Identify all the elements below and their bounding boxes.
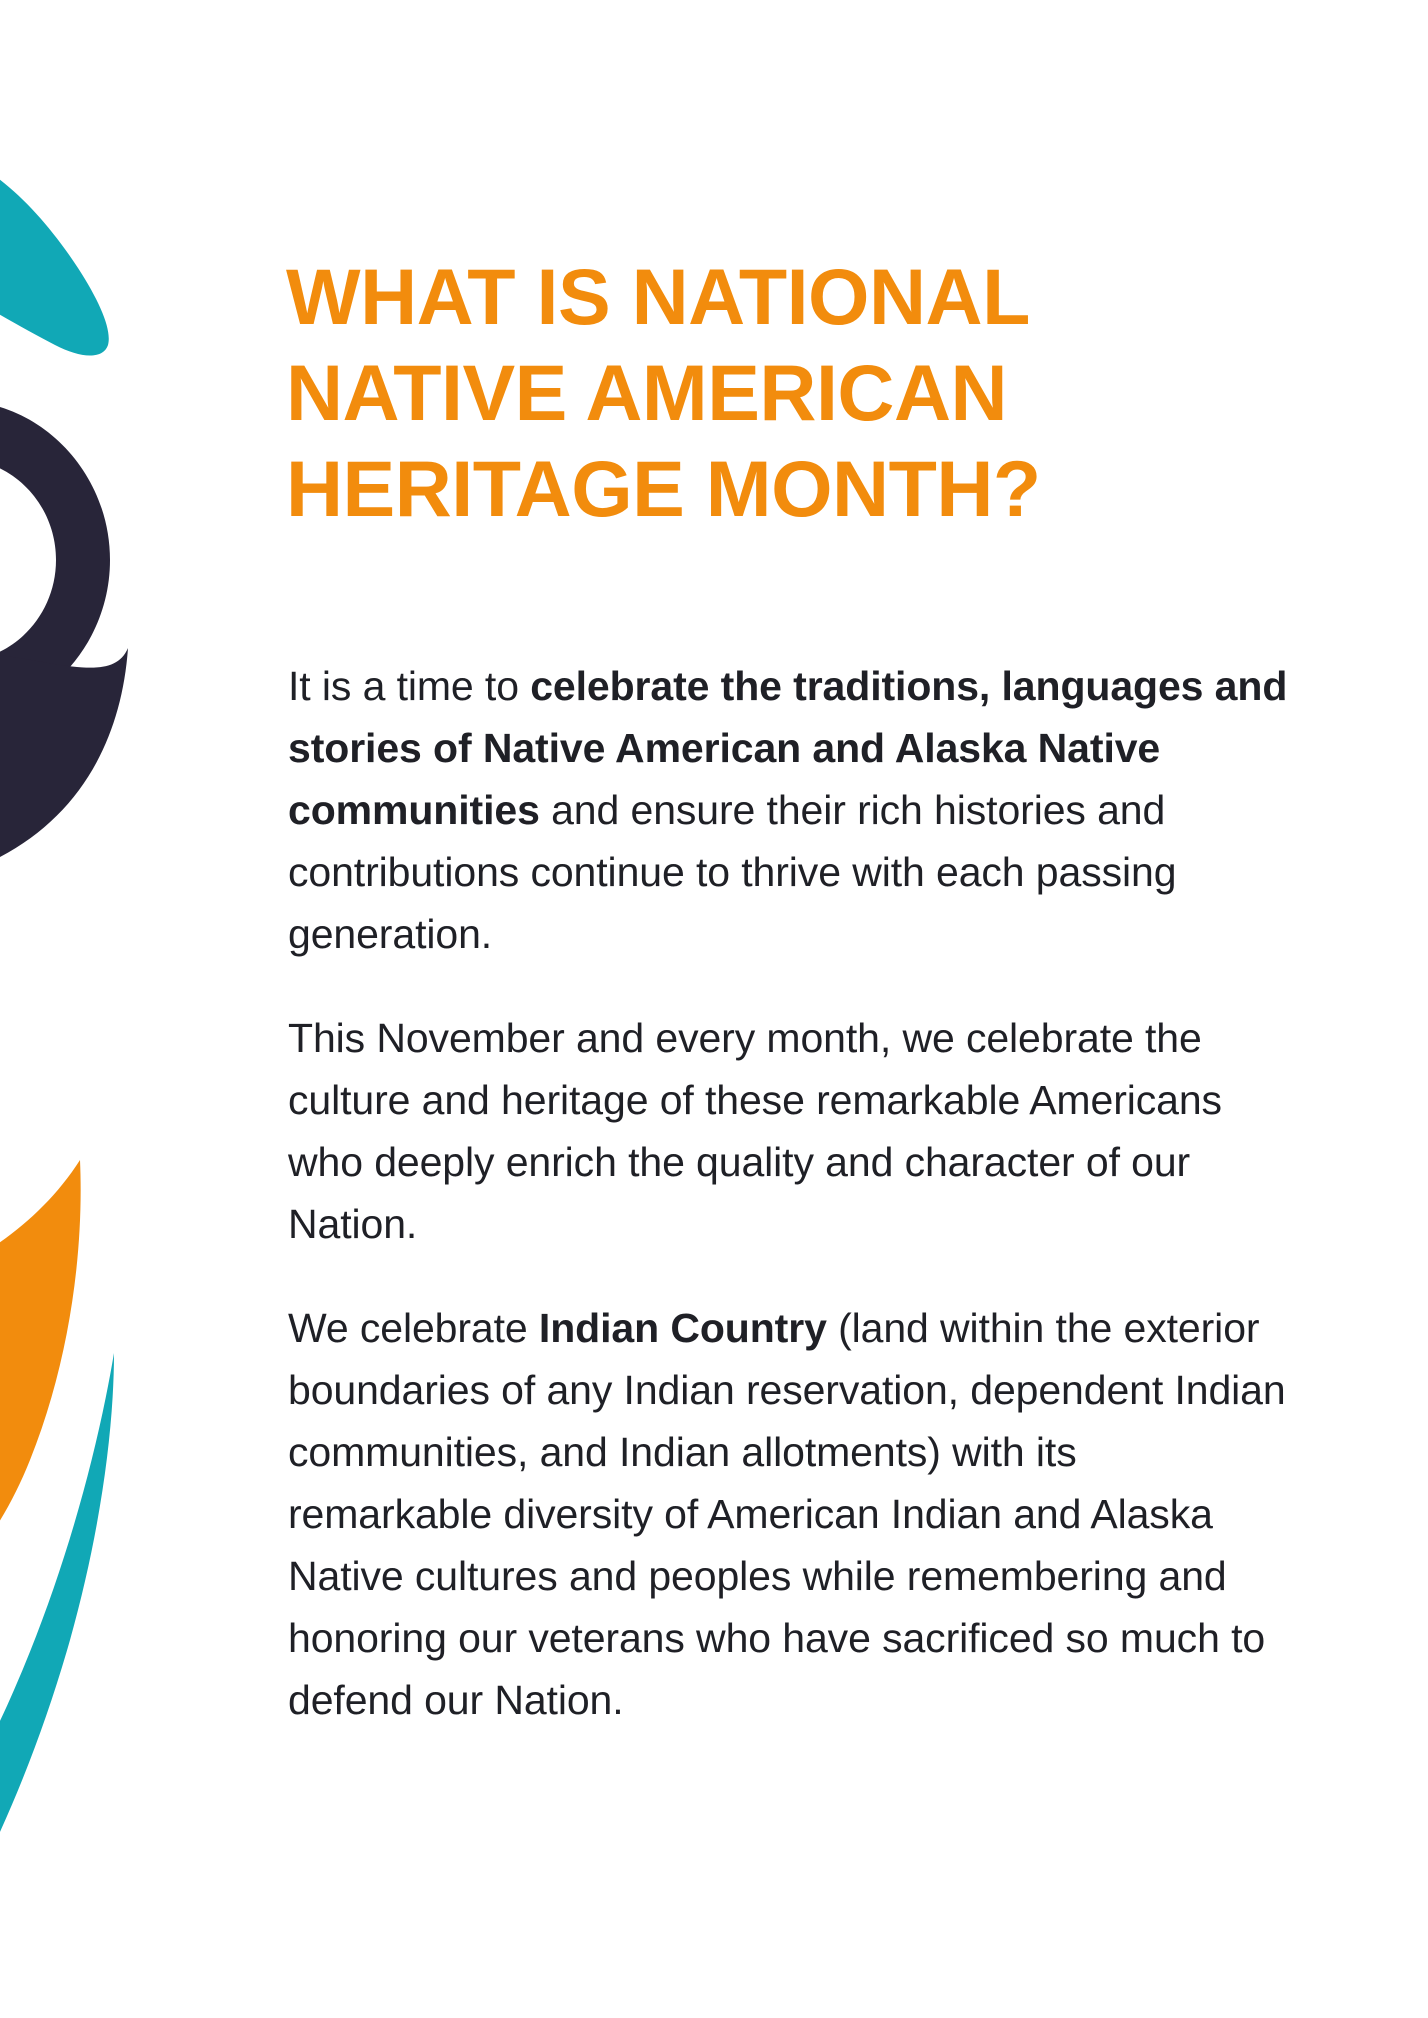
paragraph-3: We celebrate Indian Country (land within… <box>288 1297 1288 1731</box>
paragraph-2-segment-0: This November and every month, we celebr… <box>288 1015 1222 1247</box>
paragraph-1: It is a time to celebrate the traditions… <box>288 655 1288 965</box>
paragraph-2: This November and every month, we celebr… <box>288 1007 1288 1255</box>
paragraph-3-segment-0: We celebrate <box>288 1305 539 1351</box>
paragraph-3-segment-1: Indian Country <box>539 1305 827 1351</box>
headline-line-2: NATIVE AMERICAN <box>286 345 1296 441</box>
navy-ring-shape <box>0 401 110 719</box>
page-title: WHAT IS NATIONAL NATIVE AMERICAN HERITAG… <box>286 249 1296 537</box>
body-copy: It is a time to celebrate the traditions… <box>288 655 1288 1731</box>
paragraph-1-segment-0: It is a time to <box>288 663 530 709</box>
paragraph-3-segment-2: (land within the exterior boundaries of … <box>288 1305 1286 1723</box>
teal-blade-shape <box>0 1353 114 1960</box>
orange-petal-shape <box>0 1160 81 1590</box>
navy-wedge-shape <box>0 648 128 880</box>
teal-wing-shape <box>0 150 109 356</box>
decorative-brand-graphics <box>0 0 260 2018</box>
headline-line-1: WHAT IS NATIONAL <box>286 249 1296 345</box>
headline-line-3: HERITAGE MONTH? <box>286 441 1296 537</box>
